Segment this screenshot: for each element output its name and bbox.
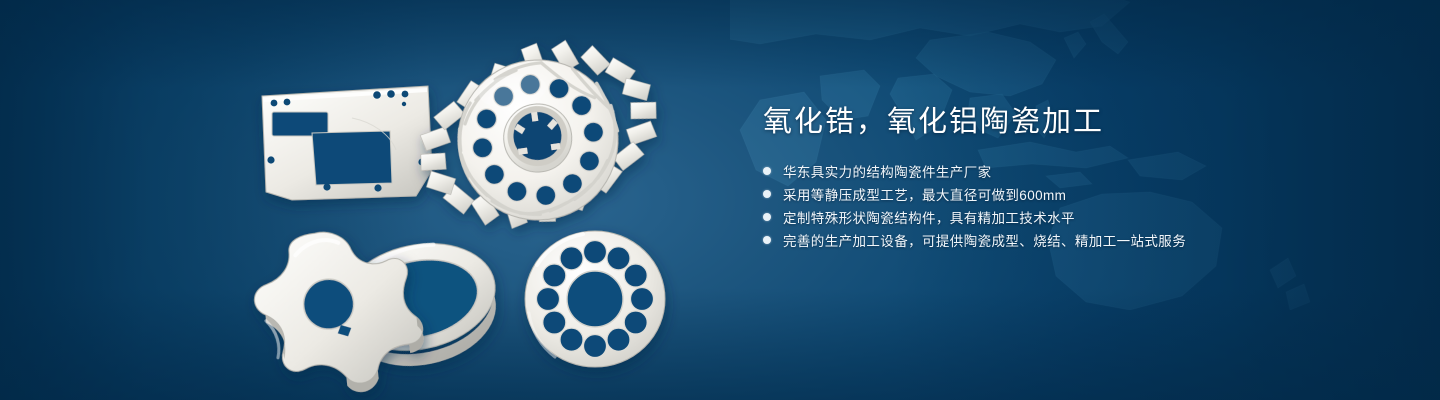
list-item: 定制特殊形状陶瓷结构件，具有精加工技术水平 (763, 205, 1363, 228)
bullet-dot-icon (763, 190, 771, 198)
feature-text: 华东具实力的结构陶瓷件生产厂家 (783, 161, 992, 181)
feature-text: 完善的生产加工设备，可提供陶瓷成型、烧结、精加工一站式服务 (783, 230, 1186, 250)
ceramic-products-photo (0, 0, 740, 400)
ceramic-impeller-part (406, 28, 671, 240)
bullet-dot-icon (763, 167, 771, 175)
list-item: 采用等静压成型工艺，最大直径可做到600mm (763, 182, 1363, 205)
banner-text-panel: 氧化锆，氧化铝陶瓷加工 华东具实力的结构陶瓷件生产厂家 采用等静压成型工艺，最大… (763, 104, 1363, 251)
bullet-dot-icon (763, 213, 771, 221)
ceramic-plate-part (262, 86, 432, 200)
feature-list: 华东具实力的结构陶瓷件生产厂家 采用等静压成型工艺，最大直径可做到600mm 定… (763, 159, 1363, 251)
ceramic-perforated-disc-part (525, 231, 665, 367)
list-item: 完善的生产加工设备，可提供陶瓷成型、烧结、精加工一站式服务 (763, 228, 1363, 251)
product-hero-banner: 氧化锆，氧化铝陶瓷加工 华东具实力的结构陶瓷件生产厂家 采用等静压成型工艺，最大… (0, 0, 1440, 400)
feature-text: 定制特殊形状陶瓷结构件，具有精加工技术水平 (783, 207, 1075, 227)
bullet-dot-icon (763, 236, 771, 244)
page-title: 氧化锆，氧化铝陶瓷加工 (763, 104, 1363, 140)
feature-text: 采用等静压成型工艺，最大直径可做到600mm (783, 184, 1066, 204)
list-item: 华东具实力的结构陶瓷件生产厂家 (763, 159, 1363, 182)
